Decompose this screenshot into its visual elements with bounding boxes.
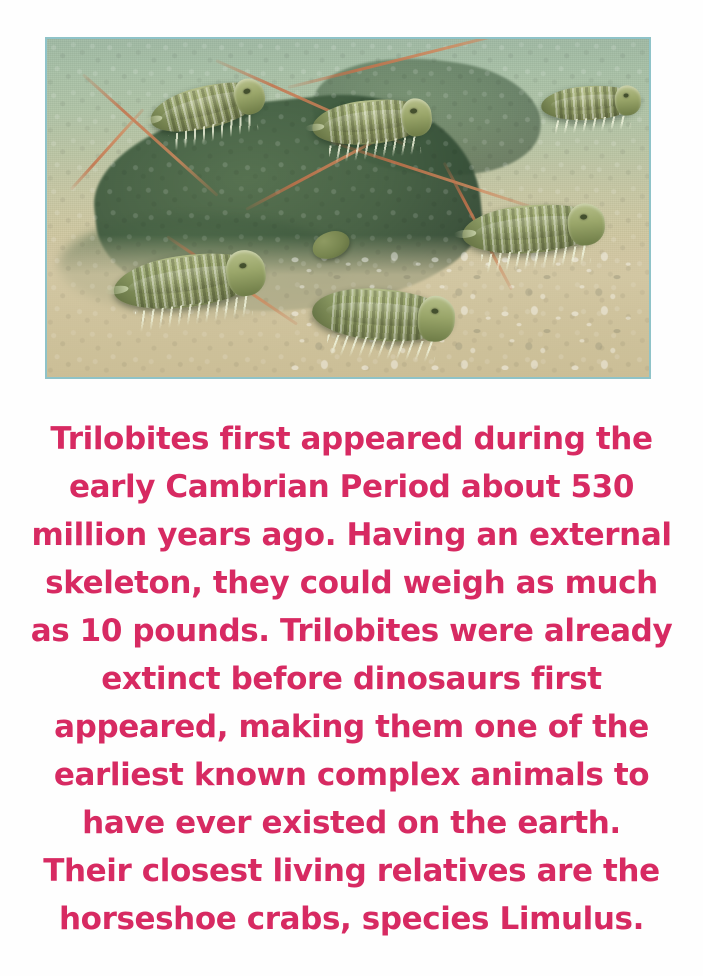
trilobite-photo: [45, 37, 651, 379]
caption-line: extinct before dinosaurs first: [0, 655, 703, 703]
caption-line: earliest known complex animals to: [0, 751, 703, 799]
trilobite-eye: [431, 308, 438, 313]
caption-line: early Cambrian Period about 530: [0, 463, 703, 511]
photo-scene: [47, 39, 649, 377]
caption-line: as 10 pounds. Trilobites were already: [0, 607, 703, 655]
caption-line: skeleton, they could weigh as much: [0, 559, 703, 607]
trilobite: [540, 83, 640, 124]
caption-line: Their closest living relatives are the: [0, 847, 703, 895]
caption-line: million years ago. Having an external: [0, 511, 703, 559]
caption-line: horseshoe crabs, species Limulus.: [0, 895, 703, 943]
fact-card-page: Trilobites first appeared during the ear…: [0, 0, 703, 976]
trilobite-cephalon: [417, 295, 456, 343]
caption-line: have ever existed on the earth.: [0, 799, 703, 847]
trilobite-cephalon: [614, 85, 641, 117]
caption-line: Trilobites first appeared during the: [0, 415, 703, 463]
caption-text: Trilobites first appeared during the ear…: [0, 415, 703, 943]
caption-line: appeared, making them one of the: [0, 703, 703, 751]
trilobite: [310, 284, 453, 346]
